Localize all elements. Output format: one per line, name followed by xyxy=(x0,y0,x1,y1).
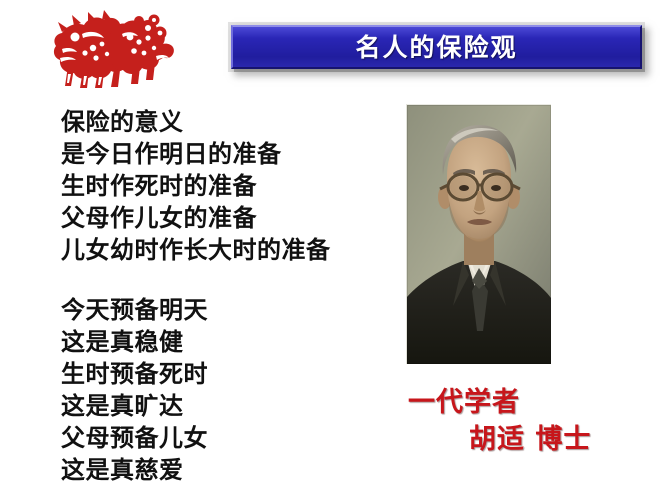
verse-line: 今天预备明天 xyxy=(61,294,208,326)
caption-line-name: 胡适 博士 xyxy=(469,426,591,453)
verse-line: 生时作死时的准备 xyxy=(61,170,331,202)
verse-line: 父母作儿女的准备 xyxy=(61,202,331,234)
verse-line: 这是真稳健 xyxy=(61,326,208,358)
verse-line: 儿女幼时作长大时的准备 xyxy=(61,234,331,266)
verse-block-2: 今天预备明天 这是真稳健 生时预备死时 这是真旷达 父母预备儿女 这是真慈爱 xyxy=(61,294,208,486)
verse-line: 父母预备儿女 xyxy=(61,422,208,454)
verse-line: 这是真旷达 xyxy=(61,390,208,422)
page-title: 名人的保险观 xyxy=(355,35,517,60)
verse-block-1: 保险的意义 是今日作明日的准备 生时作死时的准备 父母作儿女的准备 儿女幼时作长… xyxy=(61,106,331,266)
verse-line: 这是真慈爱 xyxy=(61,454,208,486)
chinese-papercut-icon xyxy=(38,4,178,90)
slide-title-banner: 名人的保险观 xyxy=(231,25,642,69)
verse-line: 生时预备死时 xyxy=(61,358,208,390)
slide-canvas: 名人的保险观 保险的意义 是今日作明日的准备 生时作死时的准备 父母作儿女的准备… xyxy=(0,0,667,500)
verse-line: 保险的意义 xyxy=(61,106,331,138)
hu-shih-portrait xyxy=(406,104,551,364)
caption-line-scholar: 一代学者 xyxy=(408,389,520,416)
verse-line: 是今日作明日的准备 xyxy=(61,138,331,170)
